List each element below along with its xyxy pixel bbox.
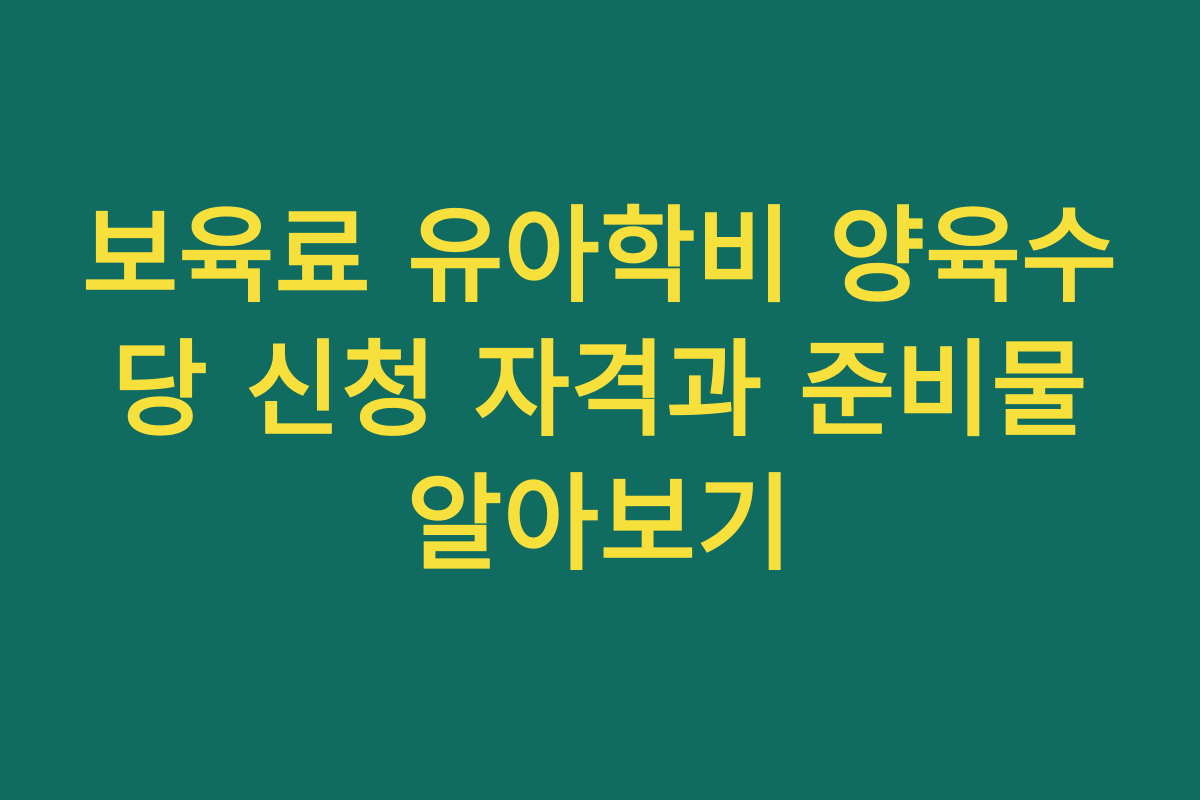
- headline-line-3: 알아보기: [50, 457, 1150, 591]
- headline-line-2: 당 신청 자격과 준비물: [50, 323, 1150, 457]
- banner-card: 보육료 유아학비 양육수 당 신청 자격과 준비물 알아보기: [0, 0, 1200, 800]
- headline-line-1: 보육료 유아학비 양육수: [50, 189, 1150, 323]
- page-title: 보육료 유아학비 양육수 당 신청 자격과 준비물 알아보기: [50, 189, 1150, 591]
